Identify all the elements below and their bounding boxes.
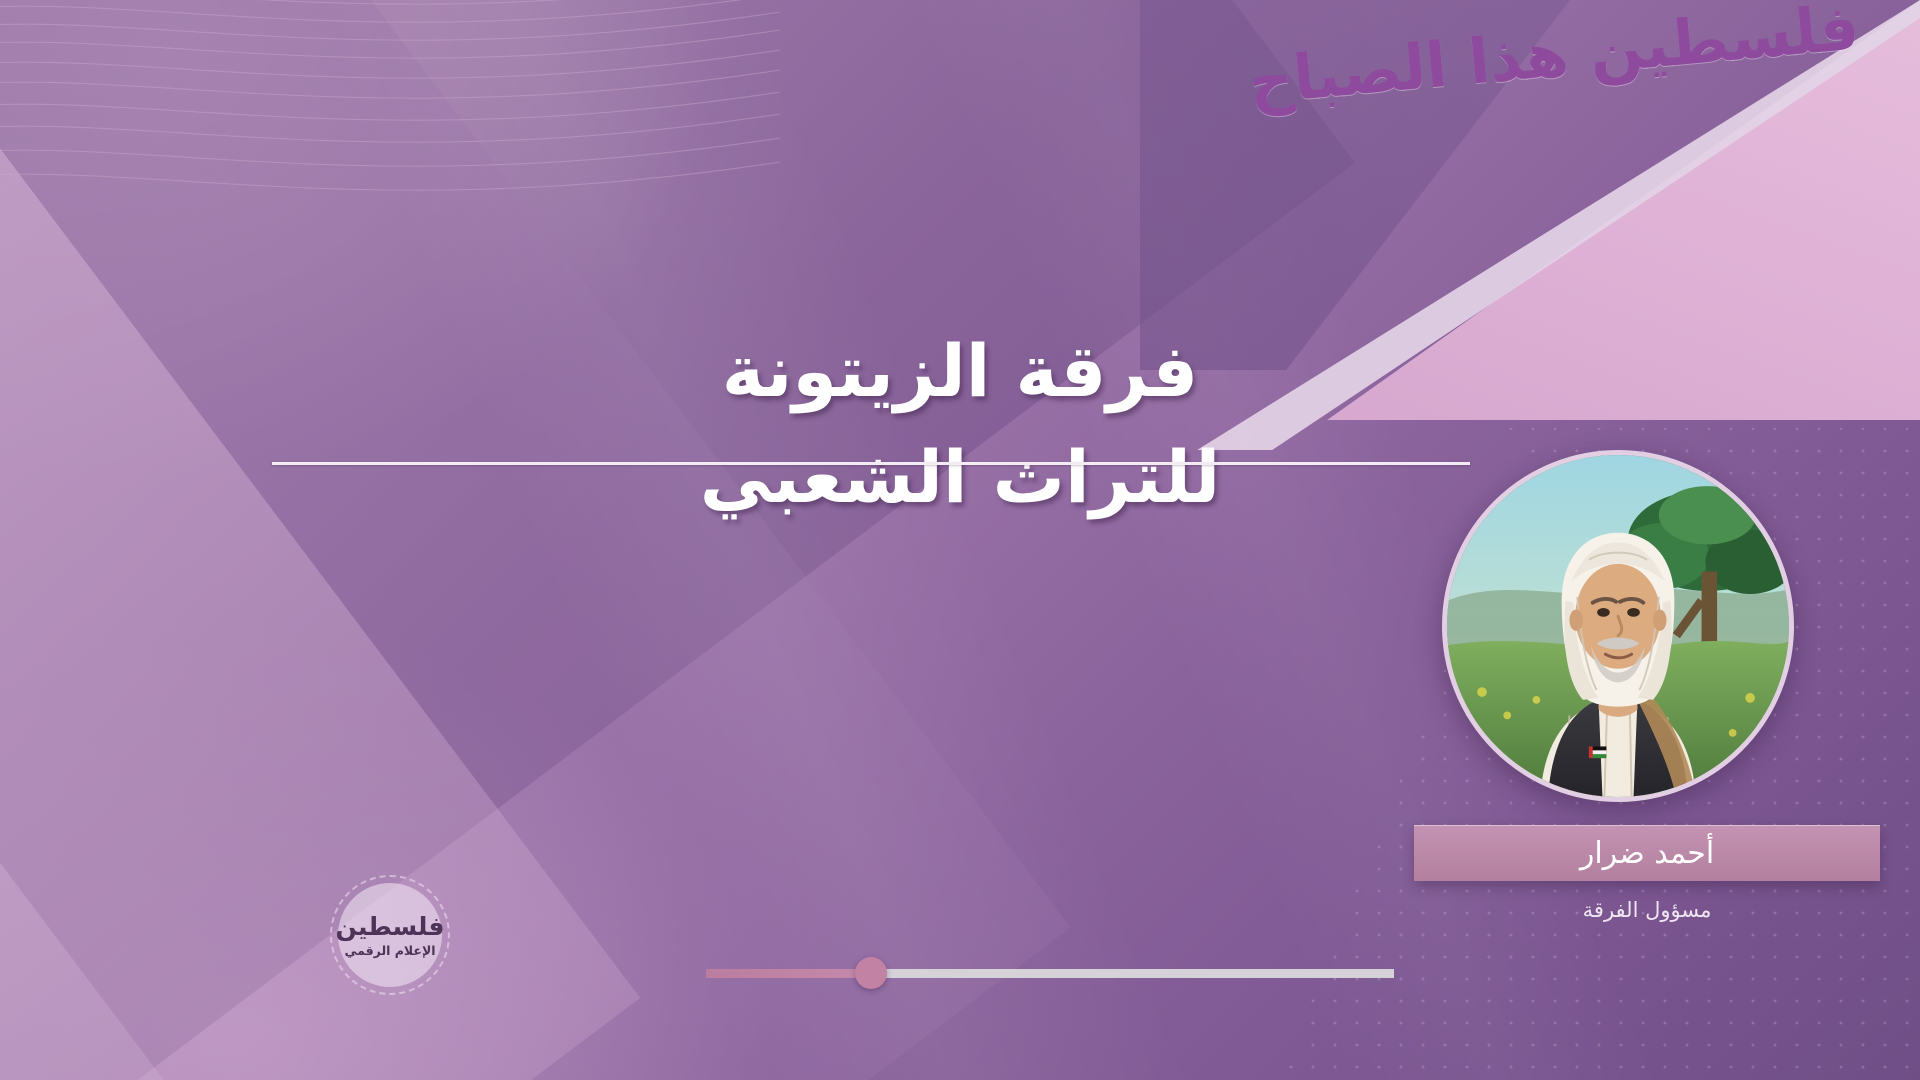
progress-fill — [706, 969, 871, 978]
guest-role: مسؤول الفرقة — [1414, 898, 1880, 922]
headline-line-1: فرقة الزيتونة — [0, 330, 1920, 414]
wave-lines-decoration — [0, 0, 780, 290]
playback-progress-bar[interactable] — [706, 966, 1394, 980]
diagonal-slab-dark-2 — [0, 0, 1070, 1080]
watermark-title: فلسطين — [335, 912, 444, 941]
headline-divider — [272, 462, 1470, 465]
diagonal-slab-light-1 — [0, 40, 640, 1080]
program-logo: فلسطين هذا الصباح — [1222, 0, 1886, 121]
glow-bottom-left — [0, 620, 780, 1080]
watermark-disc: فلسطين الإعلام الرقمي — [338, 883, 442, 987]
channel-watermark: فلسطين الإعلام الرقمي — [330, 875, 450, 995]
watermark-subtitle: الإعلام الرقمي — [344, 943, 435, 958]
guest-name: أحمد ضرار — [1580, 836, 1714, 871]
guest-portrait-illustration — [1447, 455, 1789, 797]
broadcast-frame: فلسطين هذا الصباح فرقة الزيتونة للتراث ا… — [0, 0, 1920, 1080]
progress-handle[interactable] — [855, 957, 887, 989]
diagonal-slab-dark-1 — [0, 0, 1355, 1080]
guest-nameplate: أحمد ضرار — [1414, 825, 1880, 881]
guest-photo-avatar — [1442, 450, 1794, 802]
